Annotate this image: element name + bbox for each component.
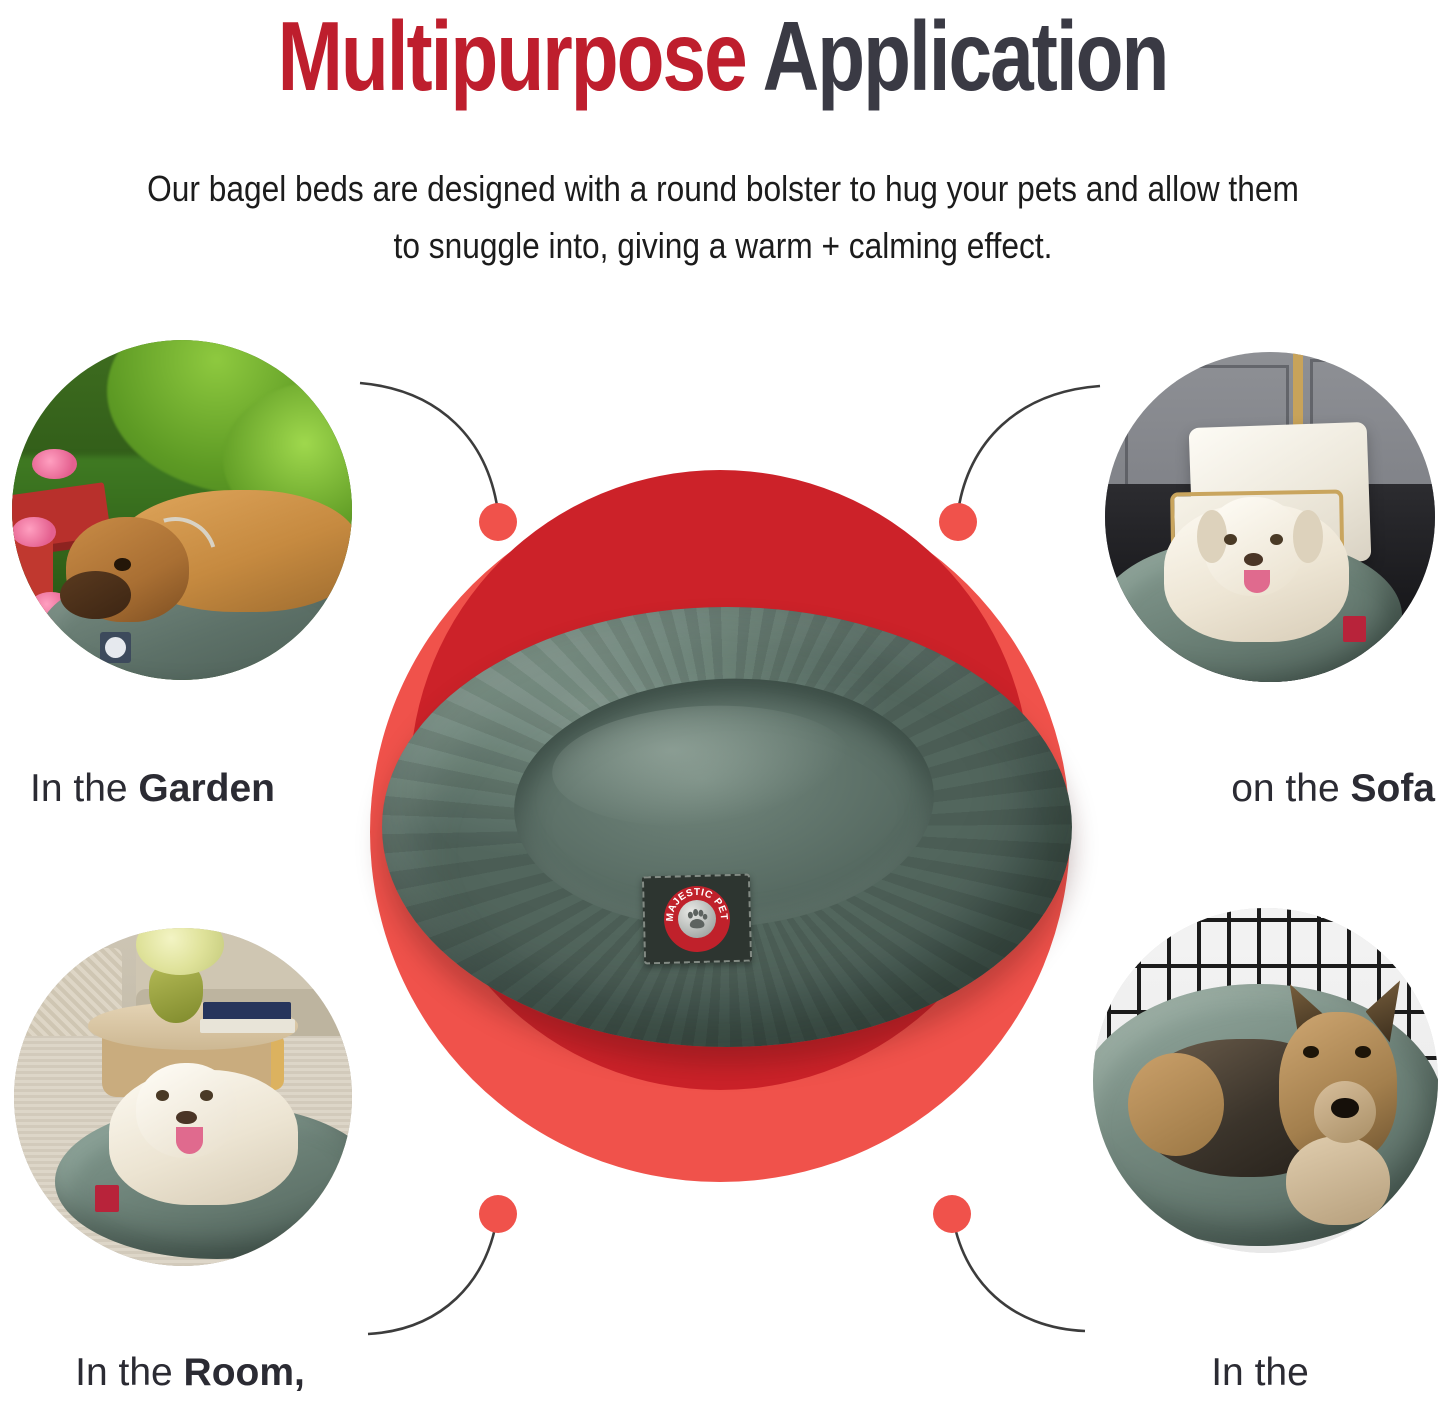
garden-bed-logo-tag — [100, 632, 131, 663]
connector-line-dog-crate — [952, 1212, 1085, 1331]
brand-tag: MAJESTIC PET — [642, 874, 752, 965]
center-product-stage: MAJESTIC PET — [362, 452, 1102, 1192]
paw-print-glyph — [684, 906, 711, 933]
bed-cushion-highlight — [549, 698, 855, 834]
connector-dot-dog-crate — [933, 1195, 971, 1233]
garden-scene — [12, 340, 352, 680]
sofa-dog-ear — [1197, 510, 1227, 563]
sofa-dog-eye — [1270, 534, 1283, 545]
connector-dot-living-room — [479, 1195, 517, 1233]
header: Multipurpose Application — [0, 0, 1445, 112]
callout-photo-sofa — [1105, 352, 1435, 682]
sofa-dog-tongue — [1244, 570, 1270, 593]
infographic-page: Multipurpose Application Our bagel beds … — [0, 0, 1445, 1416]
caption-garden-bold: Garden — [138, 767, 275, 810]
caption-dog-crate: In the Dog Crate — [1090, 1298, 1430, 1416]
garden-flower — [32, 449, 76, 480]
crate-dog-eye — [1303, 1046, 1319, 1058]
caption-sofa-bold: Sofa — [1350, 767, 1435, 810]
callout-photo-dog-crate — [1093, 908, 1438, 1253]
callout-photo-living-room — [14, 928, 352, 1266]
callout-photo-garden — [12, 340, 352, 680]
brand-badge: MAJESTIC PET — [663, 885, 731, 953]
living-room-bed-brand-tag — [95, 1185, 119, 1212]
page-subtitle: Our bagel beds are designed with a round… — [137, 160, 1307, 274]
caption-living-room-plain: In the — [75, 1351, 183, 1394]
dog-crate-scene — [1093, 908, 1438, 1253]
crate-dog-eye — [1355, 1046, 1371, 1058]
product-bagel-bed: MAJESTIC PET — [382, 607, 1072, 1087]
sofa-dog-ear — [1293, 510, 1323, 563]
crate-dog-chest — [1286, 1136, 1390, 1226]
caption-sofa: on the Sofa — [1105, 714, 1435, 814]
page-title: Multipurpose Application — [145, 0, 1301, 112]
caption-living-room-bold: Room, — [184, 1351, 305, 1394]
crate-dog-nose — [1331, 1098, 1359, 1119]
sofa-scene — [1105, 352, 1435, 682]
caption-garden-plain: In the — [30, 767, 138, 810]
caption-dog-crate-plain: In the — [1211, 1351, 1309, 1394]
caption-sofa-plain: on the — [1231, 767, 1350, 810]
connector-dot-sofa — [939, 503, 977, 541]
garden-dog-eye — [114, 558, 131, 572]
title-word-multipurpose: Multipurpose — [278, 1, 746, 111]
caption-garden: In the Garden — [30, 714, 360, 814]
living-room-scene — [14, 928, 352, 1266]
connector-dot-garden — [479, 503, 517, 541]
garden-dog-muzzle — [60, 571, 131, 619]
connector-line-living-room — [368, 1212, 498, 1334]
sofa-dog-eye — [1224, 534, 1237, 545]
books-stack-lower — [200, 1019, 295, 1033]
crate-dog-hindquarters — [1128, 1053, 1225, 1157]
caption-living-room: In the Room, Living Room — [20, 1298, 360, 1416]
living-room-dog-nose — [176, 1111, 196, 1125]
title-word-application: Application — [763, 1, 1168, 111]
sofa-bed-brand-tag — [1343, 616, 1366, 642]
